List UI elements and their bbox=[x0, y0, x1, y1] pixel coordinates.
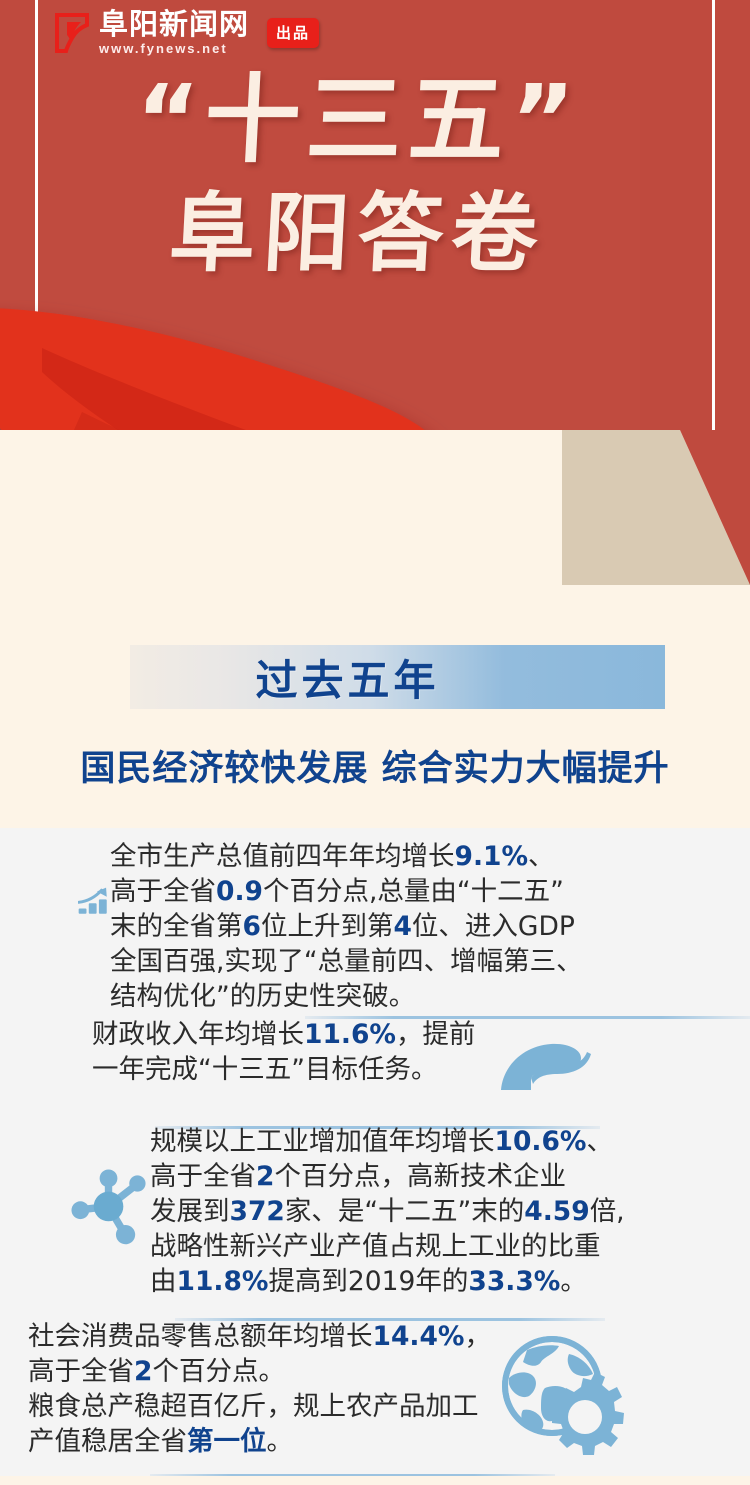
section-banner-label: 过去五年 bbox=[255, 647, 439, 708]
logo-chinese-name: 阜阳新闻网 bbox=[99, 10, 249, 39]
text-line: 全市生产总值前四年年均增长9.1%、 bbox=[110, 840, 583, 875]
stat-block-fiscal: 财政收入年均增长11.6%，提前 一年完成“十三五”目标任务。 bbox=[0, 1018, 728, 1096]
stat-block-gdp: 全市生产总值前四年年均增长9.1%、 高于全省0.9个百分点,总量由“十二五” … bbox=[0, 840, 710, 1015]
text-line: 高于全省0.9个百分点,总量由“十二五” bbox=[110, 875, 583, 910]
bottom-strip bbox=[0, 1476, 750, 1485]
section-banner: 过去五年 bbox=[130, 645, 665, 709]
text-line: 规模以上工业增加值年均增长10.6%、 bbox=[150, 1125, 625, 1160]
globe-gear-icon bbox=[491, 1320, 625, 1460]
page-title: “十三五” 阜阳答卷 bbox=[0, 70, 715, 281]
stat-block-consumption-text: 社会消费品零售总额年均增长14.4%， 高于全省2个百分点。 粮食总产稳超百亿斤… bbox=[0, 1320, 491, 1460]
molecule-network-icon bbox=[0, 1125, 150, 1300]
stat-block-industry: 规模以上工业增加值年均增长10.6%、 高于全省2个百分点，高新技术企业 发展到… bbox=[0, 1125, 728, 1300]
logo-website-url: www.fynews.net bbox=[99, 42, 249, 55]
text-line: 一年完成“十三五”目标任务。 bbox=[92, 1053, 475, 1088]
stat-block-industry-text: 规模以上工业增加值年均增长10.6%、 高于全省2个百分点，高新技术企业 发展到… bbox=[150, 1125, 625, 1300]
stat-block-fiscal-text: 财政收入年均增长11.6%，提前 一年完成“十三五”目标任务。 bbox=[0, 1018, 475, 1096]
page-title-line-1: “十三五” bbox=[0, 70, 718, 171]
text-line: 高于全省2个百分点，高新技术企业 bbox=[150, 1160, 625, 1195]
growth-bar-chart-icon bbox=[0, 840, 110, 1015]
text-line: 由11.8%提高到2019年的33.3%。 bbox=[150, 1265, 625, 1300]
beige-triangle-shape bbox=[562, 430, 750, 620]
fynews-flag-logo-icon bbox=[55, 13, 89, 53]
page-title-line-2: 阜阳答卷 bbox=[0, 187, 717, 282]
section-subheading: 国民经济较快发展 综合实力大幅提升 bbox=[0, 740, 750, 791]
text-line: 全国百强,实现了“总量前四、增幅第三、 bbox=[110, 945, 583, 980]
stat-block-gdp-text: 全市生产总值前四年年均增长9.1%、 高于全省0.9个百分点,总量由“十二五” … bbox=[110, 840, 583, 1015]
text-line: 产值稳居全省第一位。 bbox=[28, 1425, 491, 1460]
hero-panel: 阜阳新闻网 www.fynews.net 出品 “十三五” 阜阳答卷 bbox=[0, 0, 750, 620]
site-logo[interactable]: 阜阳新闻网 www.fynews.net 出品 bbox=[55, 10, 319, 55]
text-line: 社会消费品零售总额年均增长14.4%， bbox=[28, 1320, 491, 1355]
text-line: 末的全省第6位上升到第4位、进入GDP bbox=[110, 910, 583, 945]
text-line: 粮食总产稳超百亿斤，规上农产品加工 bbox=[28, 1390, 491, 1425]
open-hand-icon bbox=[475, 1018, 593, 1096]
text-line: 战略性新兴产业产值占规上工业的比重 bbox=[150, 1230, 625, 1265]
section-heading-band bbox=[0, 600, 750, 828]
stat-block-consumption: 社会消费品零售总额年均增长14.4%， 高于全省2个百分点。 粮食总产稳超百亿斤… bbox=[0, 1320, 748, 1460]
text-line: 发展到372家、是“十二五”末的4.59倍, bbox=[150, 1195, 625, 1230]
text-line: 结构优化”的历史性突破。 bbox=[110, 980, 583, 1015]
text-line: 高于全省2个百分点。 bbox=[28, 1355, 491, 1390]
text-line: 财政收入年均增长11.6%，提前 bbox=[92, 1018, 475, 1053]
content-area: 全市生产总值前四年年均增长9.1%、 高于全省0.9个百分点,总量由“十二五” … bbox=[0, 828, 750, 1485]
produced-by-badge: 出品 bbox=[267, 18, 319, 48]
